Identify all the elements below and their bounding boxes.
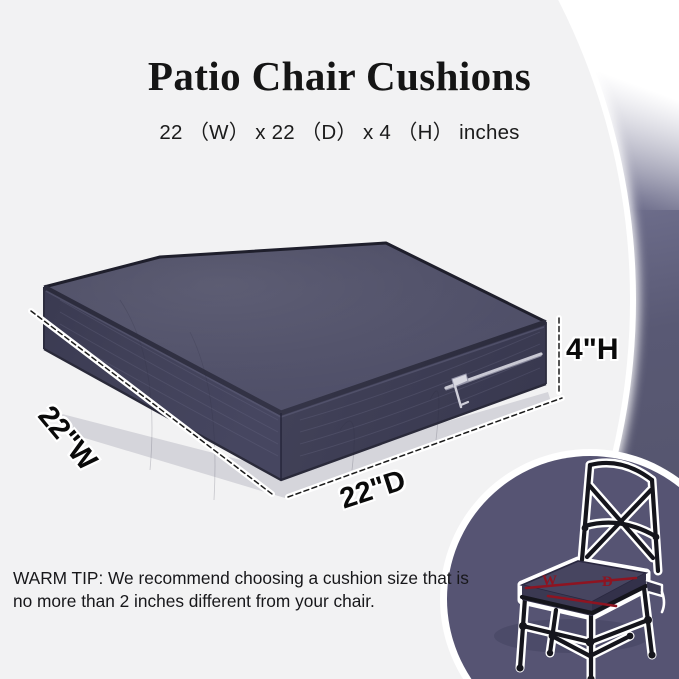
page-title: Patio Chair Cushions xyxy=(0,52,679,100)
page-subtitle: 22 （W） x 22 （D） x 4 （H） inches xyxy=(0,115,679,145)
dimension-label-height: 4"H xyxy=(566,333,619,367)
product-image-canvas: W D xyxy=(0,0,679,679)
warm-tip-text: WARM TIP: We recommend choosing a cushio… xyxy=(13,567,483,613)
